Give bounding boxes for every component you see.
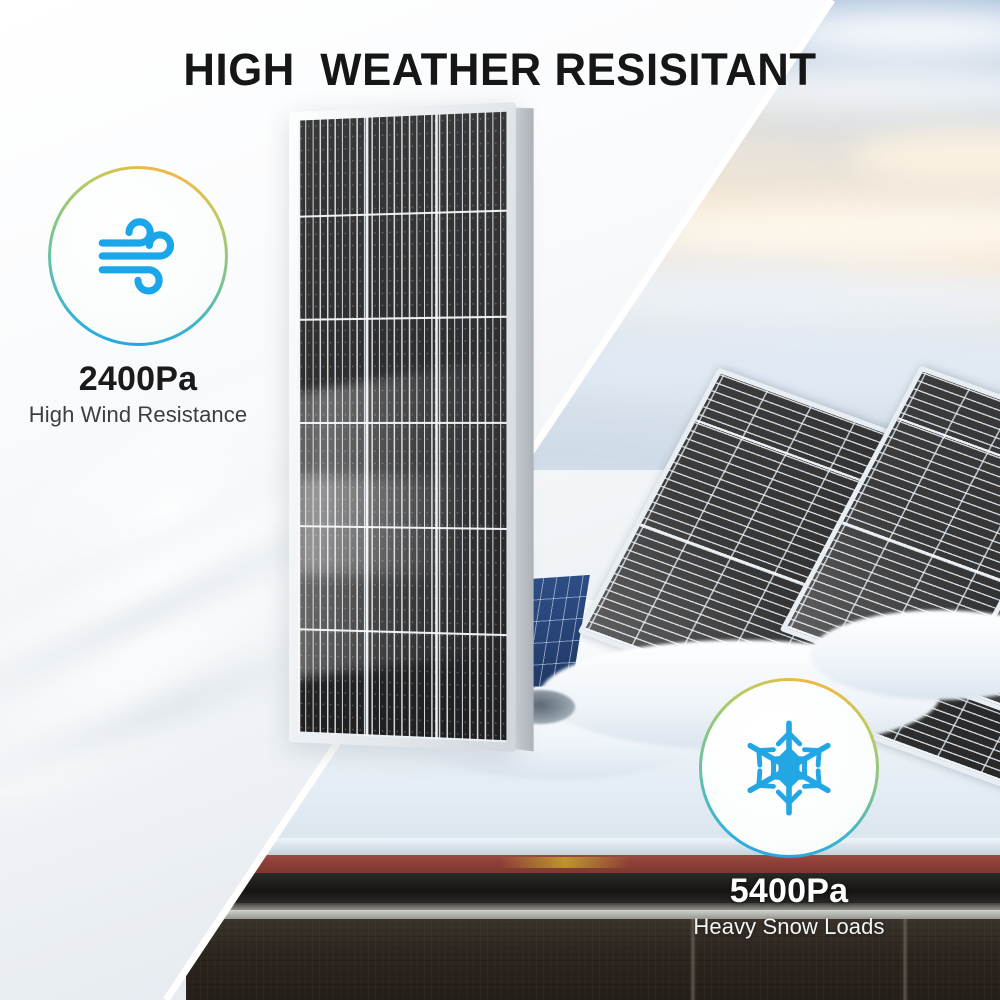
badge-caption: Heavy Snow Loads [676, 914, 902, 939]
badge-ring [699, 678, 879, 858]
badge-snow-load: 5400Pa Heavy Snow Loads [676, 678, 902, 939]
wall-seam [902, 919, 908, 1000]
badge-value: 5400Pa [676, 874, 902, 910]
badge-caption: High Wind Resistance [25, 402, 251, 427]
badge-wind-resistance: 2400Pa High Wind Resistance [25, 166, 251, 427]
solar-panel-product [289, 102, 516, 752]
infographic-canvas: HIGH WEATHER RESISITANT 2400Pa High Wind… [0, 0, 1000, 1000]
cloud [640, 200, 1000, 260]
badge-ring-inner [51, 169, 225, 343]
badge-value: 2400Pa [25, 362, 251, 398]
badge-ring-inner [702, 681, 876, 855]
panel-glass [298, 112, 507, 742]
cloud [850, 130, 1000, 184]
page-title: HIGH WEATHER RESISITANT [15, 44, 985, 96]
panel-frame-side [513, 108, 534, 752]
badge-ring [48, 166, 228, 346]
wind-icon [86, 204, 190, 308]
panel-frame [289, 102, 516, 752]
panel-glare-secondary [298, 476, 460, 577]
snowflake-icon [736, 715, 842, 821]
